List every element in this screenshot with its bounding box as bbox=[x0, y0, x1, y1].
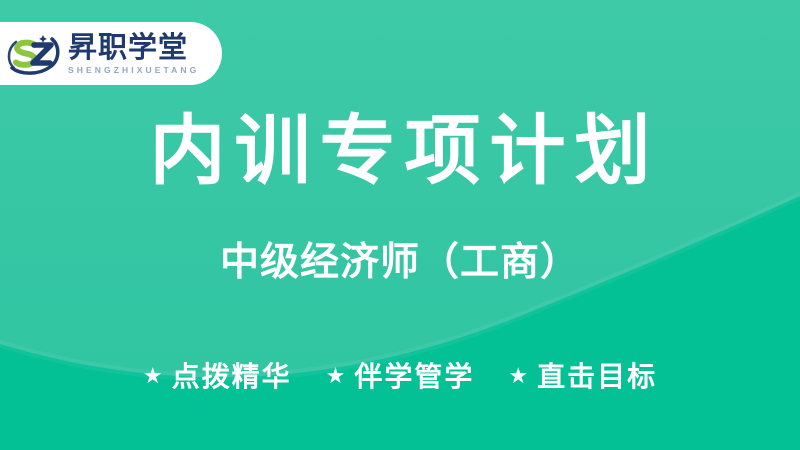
brand-logo-panel[interactable]: 昇职学堂 SHENGZHIXUETANG bbox=[0, 22, 222, 85]
feature-label: 点拨精华 bbox=[172, 360, 292, 394]
star-icon: ★ bbox=[508, 365, 528, 387]
curve-shape-lower bbox=[0, 196, 800, 450]
star-icon: ★ bbox=[143, 365, 163, 387]
star-icon: ★ bbox=[326, 365, 346, 387]
feature-item: ★ 直击目标 bbox=[508, 360, 657, 394]
feature-label: 伴学管学 bbox=[354, 360, 474, 394]
banner-headline: 内训专项计划 bbox=[0, 108, 800, 194]
feature-highlight-row: ★ 点拨精华 ★ 伴学管学 ★ 直击目标 bbox=[0, 360, 800, 394]
brand-name-cn: 昇职学堂 bbox=[68, 33, 199, 62]
brand-name-en: SHENGZHIXUETANG bbox=[68, 66, 199, 75]
feature-item: ★ 伴学管学 bbox=[326, 360, 475, 394]
sz-monogram-icon bbox=[4, 31, 62, 77]
feature-item: ★ 点拨精华 bbox=[143, 360, 292, 394]
course-promo-banner: 昇职学堂 SHENGZHIXUETANG 内训专项计划 中级经济师（工商） ★ … bbox=[0, 0, 800, 450]
feature-label: 直击目标 bbox=[537, 360, 657, 394]
brand-text-lockup: 昇职学堂 SHENGZHIXUETANG bbox=[68, 33, 199, 75]
banner-subtitle: 中级经济师（工商） bbox=[0, 238, 800, 288]
